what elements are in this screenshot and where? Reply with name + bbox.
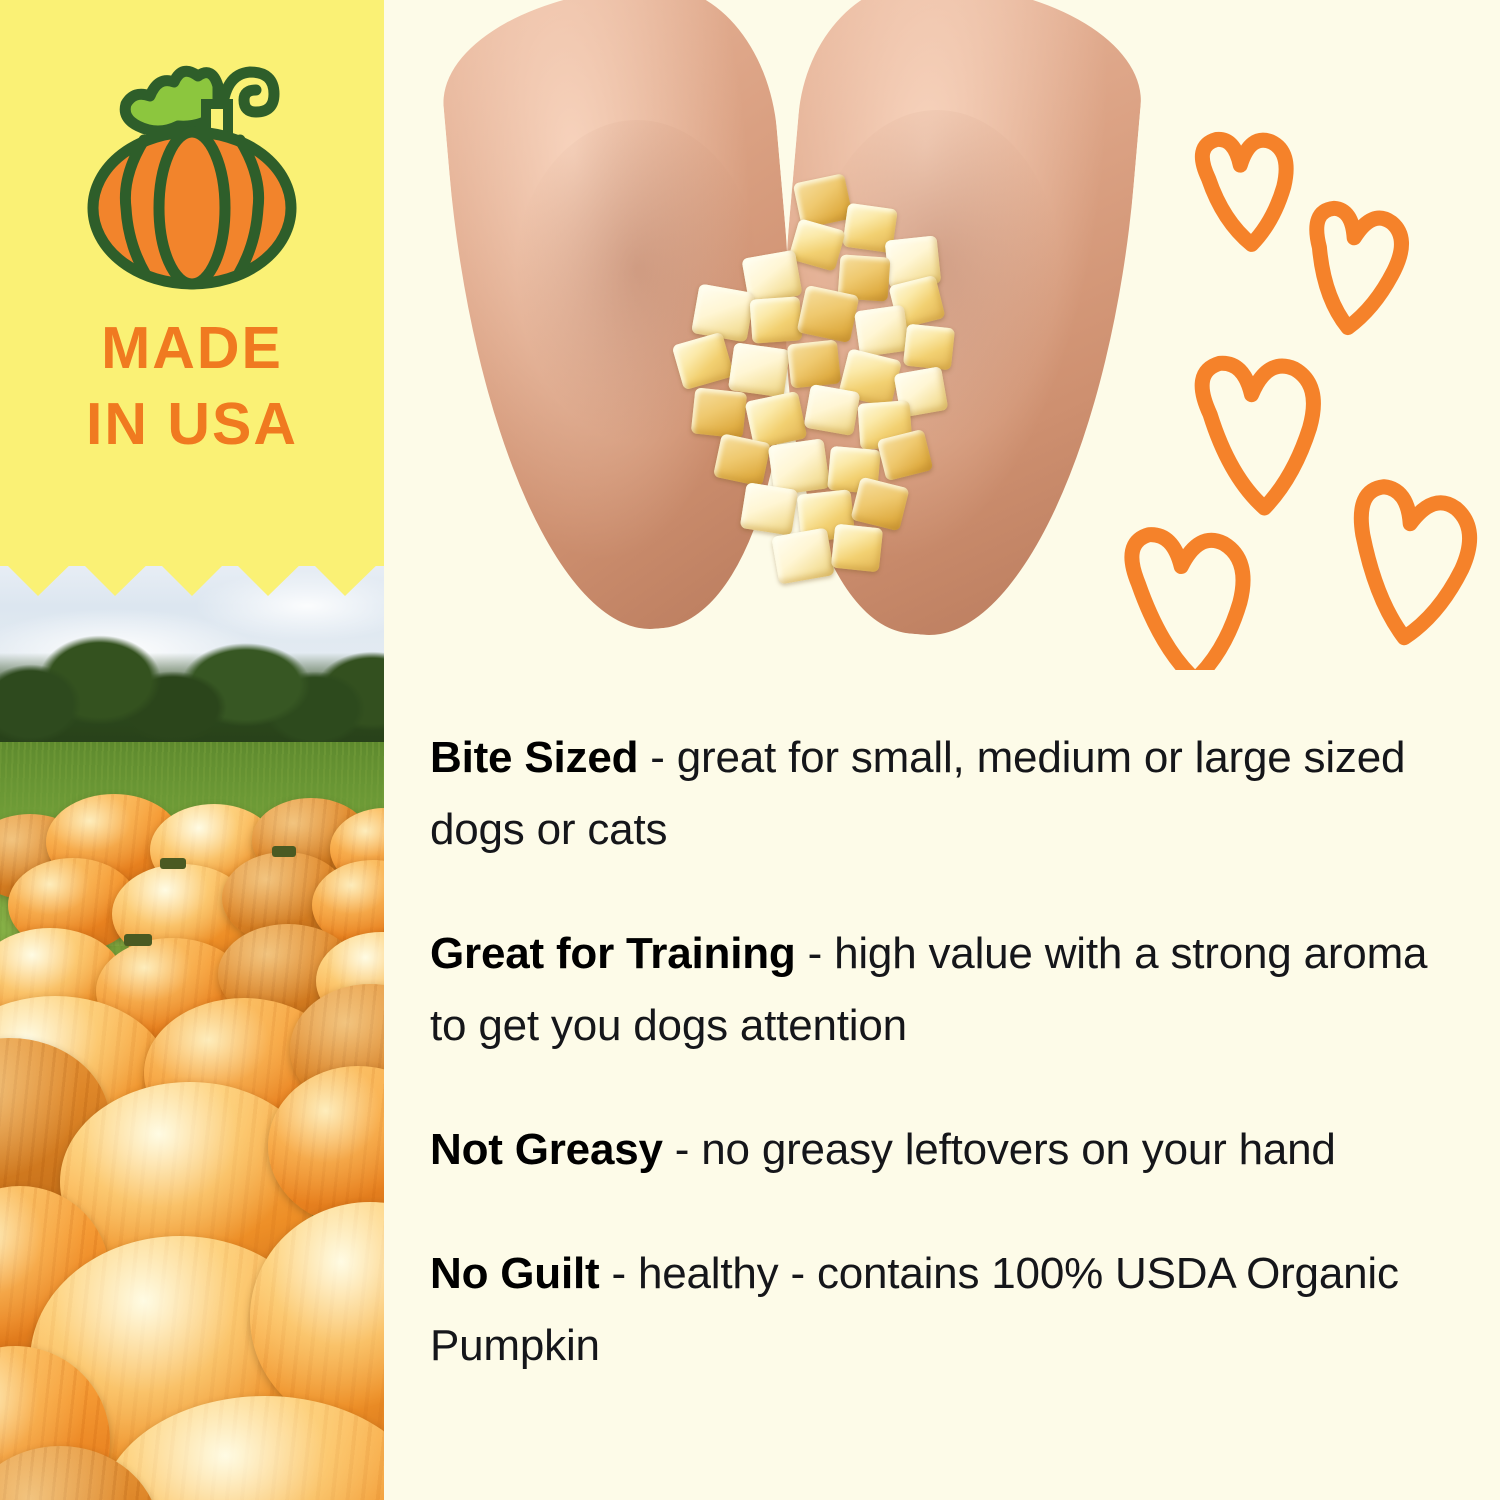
treat-cube xyxy=(713,433,771,486)
feature-text: Not Greasy - no greasy leftovers on your… xyxy=(430,1114,1460,1186)
feature-list: Bite Sized - great for small, medium or … xyxy=(430,722,1460,1382)
feature-term: No Guilt xyxy=(430,1249,599,1298)
feature-item-bite-sized: Bite Sized - great for small, medium or … xyxy=(430,722,1460,866)
made-in-usa-badge-panel: MADE IN USA xyxy=(0,0,384,566)
product-feature-infographic: MADE IN USA xyxy=(0,0,1500,1500)
treat-cube xyxy=(750,296,803,343)
treat-cube xyxy=(831,524,883,573)
made-in-usa-line-2: IN USA xyxy=(0,386,384,462)
feature-term: Bite Sized xyxy=(430,733,638,782)
photo-pumpkin-stem xyxy=(124,934,152,946)
heart-icon xyxy=(1310,207,1404,331)
feature-term: Not Greasy xyxy=(430,1125,663,1174)
heart-icon xyxy=(1201,133,1294,249)
treat-cube xyxy=(691,284,755,343)
treat-cube xyxy=(797,285,860,343)
treat-cube xyxy=(903,324,955,371)
treat-cube xyxy=(728,342,790,397)
treat-cube xyxy=(672,332,735,391)
treat-cube-pile xyxy=(647,170,977,620)
treat-cube xyxy=(771,528,834,585)
feature-item-not-greasy: Not Greasy - no greasy leftovers on your… xyxy=(430,1114,1460,1186)
treat-cube xyxy=(804,384,861,436)
photo-pumpkin-stem xyxy=(160,858,186,869)
feature-text: Bite Sized - great for small, medium or … xyxy=(430,722,1460,866)
hand-drawn-hearts xyxy=(1120,110,1500,670)
photo-pumpkin-stem xyxy=(272,846,296,857)
feature-text: Great for Training - high value with a s… xyxy=(430,918,1460,1062)
treat-cube xyxy=(850,477,909,532)
feature-text: No Guilt - healthy - contains 100% USDA … xyxy=(430,1238,1460,1382)
feature-description: - no greasy leftovers on your hand xyxy=(663,1125,1336,1174)
hands-holding-treats-photo xyxy=(452,0,1152,700)
feature-item-great-for-training: Great for Training - high value with a s… xyxy=(430,918,1460,1062)
feature-item-no-guilt: No Guilt - healthy - contains 100% USDA … xyxy=(430,1238,1460,1382)
made-in-usa-line-1: MADE xyxy=(101,315,283,381)
treat-cube xyxy=(691,387,748,438)
left-column: MADE IN USA xyxy=(0,0,384,1500)
pumpkin-icon xyxy=(0,48,384,298)
made-in-usa-text: MADE IN USA xyxy=(0,310,384,462)
heart-icon xyxy=(1349,485,1474,644)
treat-cube xyxy=(787,340,841,389)
pumpkin-patch-photo xyxy=(0,546,384,1500)
treat-cube xyxy=(740,482,799,536)
heart-icon xyxy=(1200,355,1322,512)
feature-term: Great for Training xyxy=(430,929,796,978)
treat-cube xyxy=(854,305,910,358)
